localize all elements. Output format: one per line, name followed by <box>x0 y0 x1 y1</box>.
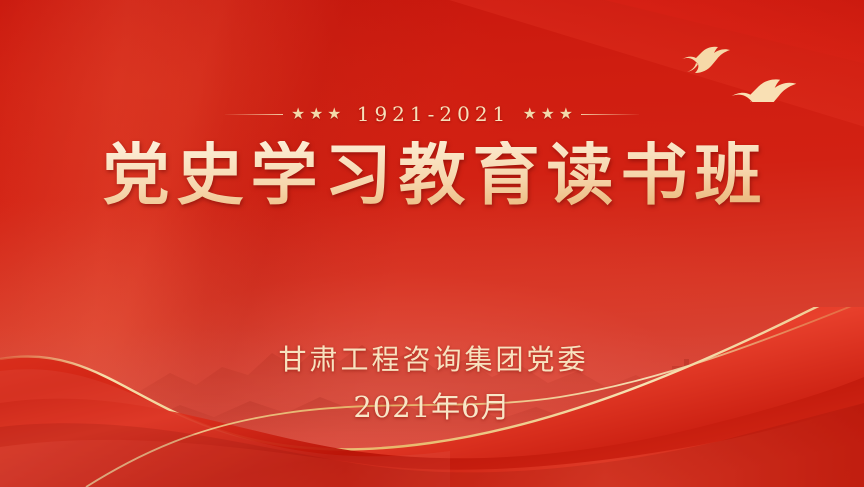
anniversary-years: 1921-2021 <box>350 104 515 124</box>
slide-canvas: ★ ★ ★ 1921-2021 ★ ★ ★ 党史学习教育读书班 甘肃工程咨询集团… <box>0 0 864 487</box>
rule-right <box>581 114 639 115</box>
star-icon: ★ <box>523 108 536 121</box>
organization-name: 甘肃工程咨询集团党委 <box>0 346 864 374</box>
stars-right: ★ ★ ★ <box>523 108 572 121</box>
star-icon: ★ <box>541 108 554 121</box>
star-icon: ★ <box>292 108 305 121</box>
star-icon: ★ <box>559 108 572 121</box>
page-title: 党史学习教育读书班 <box>96 141 769 208</box>
anniversary-band: ★ ★ ★ 1921-2021 ★ ★ ★ <box>225 101 640 127</box>
star-icon: ★ <box>310 108 323 121</box>
date-label: 2021年6月 <box>0 393 864 422</box>
star-icon: ★ <box>328 108 341 121</box>
rule-left <box>225 114 283 115</box>
stars-left: ★ ★ ★ <box>292 108 341 121</box>
